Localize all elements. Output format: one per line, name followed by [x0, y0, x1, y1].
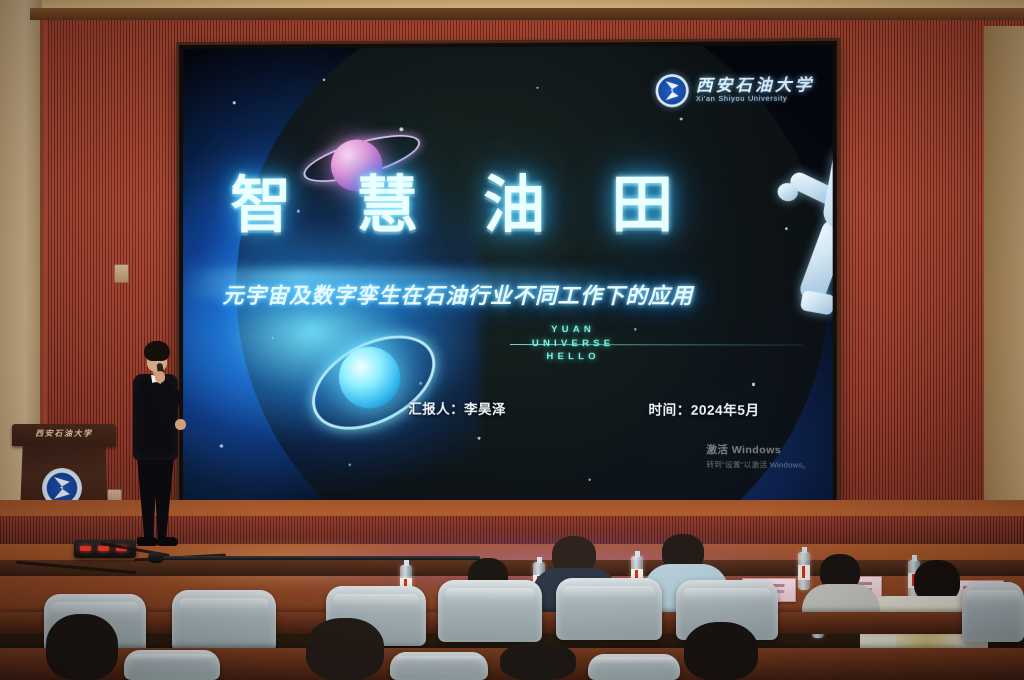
- eyebrow-line-2: UNIVERSE: [498, 336, 648, 350]
- slide-eyebrow-text: YUAN UNIVERSE HELLO: [498, 323, 648, 364]
- wall-top-trim: [30, 8, 1024, 20]
- astronaut-left-boot: [800, 290, 833, 315]
- audience-chair-front: [390, 652, 488, 680]
- eyebrow-line-1: YUAN: [498, 323, 648, 337]
- slide-presenter: 汇报人：李昊泽: [408, 398, 506, 418]
- water-bottle: [798, 552, 810, 590]
- university-name-block: 西安石油大学 Xi'an Shiyou University: [696, 77, 815, 103]
- audience-chair: [962, 582, 1024, 642]
- presenter-legs: [137, 457, 174, 541]
- audience-chair-front: [588, 654, 680, 680]
- slide-date: 时间：2024年5月: [648, 398, 759, 419]
- presenter-person: [125, 341, 187, 556]
- university-name-cn: 西安石油大学: [696, 77, 815, 96]
- audience-chair: [556, 578, 662, 640]
- audience-head-front: [46, 614, 118, 680]
- audience-chair: [438, 580, 542, 642]
- audience-chair: [172, 590, 276, 652]
- presenter-hand-holding-mic: [155, 371, 165, 383]
- watermark-line-2: 转到"设置"以激活 Windows。: [706, 459, 810, 471]
- presenter-left-shoe: [137, 537, 158, 546]
- audience-head-front: [684, 622, 758, 680]
- presenter-hair: [144, 341, 170, 361]
- university-emblem-icon: [656, 74, 689, 107]
- presenter-right-shoe: [157, 537, 178, 546]
- audience-chair-front: [124, 650, 220, 680]
- audience-head-front: [306, 618, 384, 680]
- slide-title: 智 慧 油 田: [230, 153, 749, 244]
- slide-subtitle: 元宇宙及数字孪生在石油行业不同工作下的应用: [222, 279, 822, 310]
- audience-head-front: [500, 642, 576, 680]
- lectern-university-label: 西安石油大学: [26, 428, 102, 439]
- windows-activation-watermark: 激活 Windows 转到"设置"以激活 Windows。: [706, 442, 810, 471]
- presenter-gesturing-hand: [175, 419, 186, 430]
- watermark-line-1: 激活 Windows: [706, 442, 810, 458]
- eyebrow-line-3: HELLO: [498, 350, 648, 364]
- screenshot-root: 智 慧 油 田 智 慧 油 田 元宇宙及数字孪生在石油行业不同工作下的应用 YU…: [0, 0, 1024, 680]
- slide-university-logo: 西安石油大学 Xi'an Shiyou University: [656, 73, 815, 107]
- right-wall-pillar: [984, 26, 1024, 526]
- wall-socket-left: [114, 264, 129, 283]
- led-screen: 智 慧 油 田 智 慧 油 田 元宇宙及数字孪生在石油行业不同工作下的应用 YU…: [179, 41, 837, 508]
- university-name-en: Xi'an Shiyou University: [696, 95, 815, 103]
- saturn-planet-icon: [339, 347, 400, 409]
- microphone-boom: [150, 556, 480, 560]
- led-screen-surface: 智 慧 油 田 智 慧 油 田 元宇宙及数字孪生在石油行业不同工作下的应用 YU…: [183, 45, 833, 504]
